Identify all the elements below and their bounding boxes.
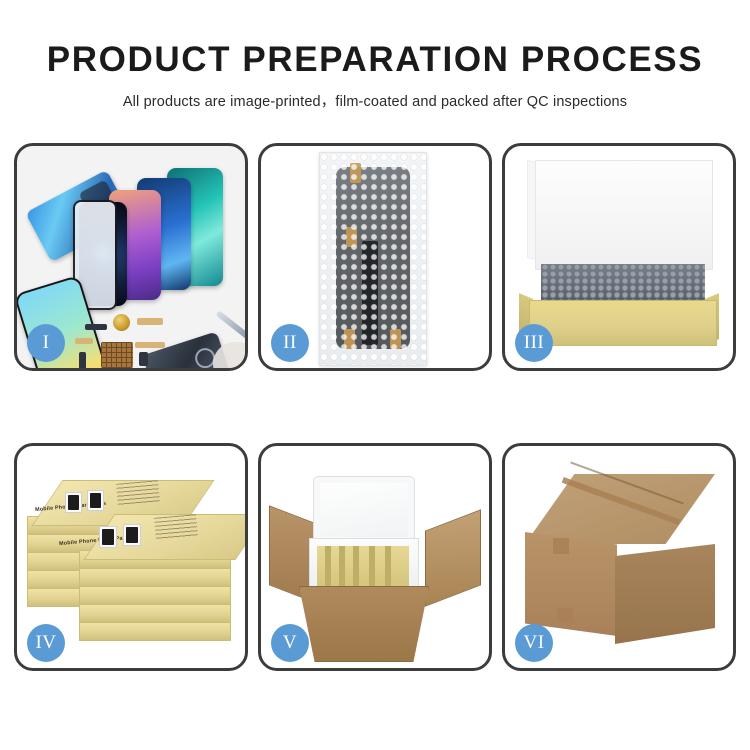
carton-tape-tab-bottom xyxy=(557,608,573,622)
step-panel-2: II xyxy=(258,143,492,371)
small-part-e xyxy=(139,352,148,366)
carton-top-face xyxy=(525,474,715,544)
step-panel-3: III xyxy=(502,143,736,371)
flex-cable-c xyxy=(75,338,93,344)
stacked-box-r2 xyxy=(79,568,231,587)
bubble-wrap-bag xyxy=(319,152,427,366)
packed-yellow-boxes xyxy=(317,546,409,588)
step-badge-1: I xyxy=(27,324,65,362)
bubble-texture-overlay xyxy=(320,153,426,365)
step-panel-6: VI xyxy=(502,443,736,671)
box-slat-5 xyxy=(385,546,391,588)
step-badge-6: VI xyxy=(515,624,553,662)
box-lid-open xyxy=(535,160,713,270)
process-step-grid: I II xyxy=(14,143,736,677)
screw-tray-part xyxy=(101,342,133,368)
box-slat-1 xyxy=(325,546,331,588)
stacked-box-r5 xyxy=(79,622,231,641)
stacked-box-r4 xyxy=(79,604,231,623)
carton-flap-right xyxy=(425,509,481,606)
carton-right-face xyxy=(615,544,715,644)
step-panel-4: Mobile Phone Spare Parts Mobile Phone Sp… xyxy=(14,443,248,671)
box-slat-3 xyxy=(353,546,359,588)
styrofoam-lid xyxy=(313,476,415,544)
box-text-lines-front xyxy=(154,514,198,540)
step-badge-5: V xyxy=(271,624,309,662)
stacked-box-r3 xyxy=(79,586,231,605)
step-badge-2: II xyxy=(271,324,309,362)
carton-front-panel xyxy=(299,586,429,662)
tweezers-tool xyxy=(215,310,245,339)
yellow-box-front xyxy=(529,300,717,346)
step-panel-5: V xyxy=(258,443,492,671)
box-window-back-1 xyxy=(65,492,82,513)
box-window-front-1 xyxy=(99,526,117,548)
small-part-a xyxy=(79,352,86,368)
box-slat-4 xyxy=(369,546,375,588)
box-window-back-2 xyxy=(87,490,104,511)
step-badge-4: IV xyxy=(27,624,65,662)
step-panel-1: I xyxy=(14,143,248,371)
grey-foam-padding xyxy=(541,264,705,304)
product-preparation-infographic: PRODUCT PREPARATION PROCESS All products… xyxy=(0,0,750,750)
carton-tape-tab-top xyxy=(553,538,569,554)
flex-cable-b xyxy=(135,342,165,348)
box-slat-2 xyxy=(339,546,345,588)
battery-connector-part xyxy=(85,324,107,330)
page-subtitle: All products are image-printed，film-coat… xyxy=(0,79,750,111)
speaker-coil-part xyxy=(113,314,130,331)
box-window-front-2 xyxy=(123,524,141,546)
box-text-lines-back xyxy=(116,480,160,506)
flex-cable-a xyxy=(137,318,163,325)
page-title: PRODUCT PREPARATION PROCESS xyxy=(0,0,750,79)
step-badge-3: III xyxy=(515,324,553,362)
header: PRODUCT PREPARATION PROCESS All products… xyxy=(0,0,750,111)
